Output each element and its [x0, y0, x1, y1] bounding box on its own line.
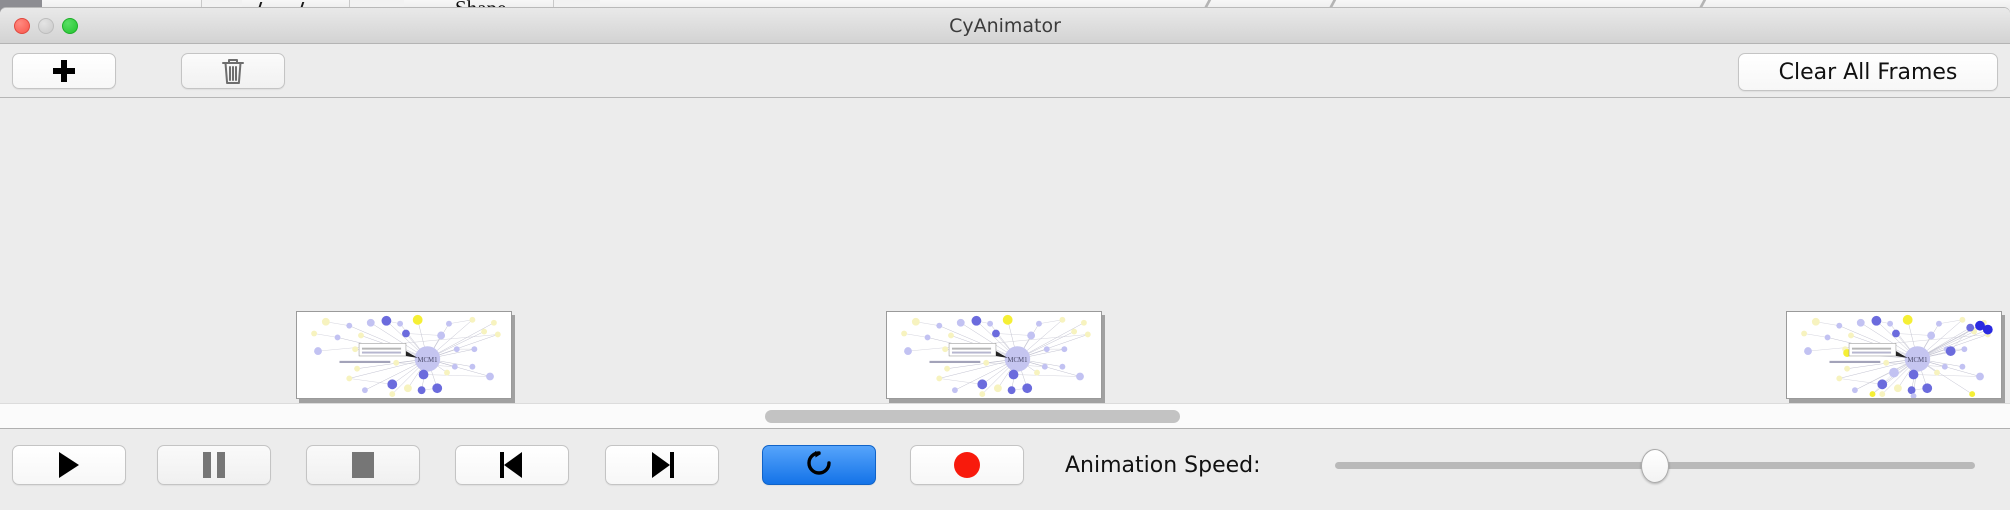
timeline-scrollbar[interactable]	[0, 403, 2010, 429]
animation-speed-label: Animation Speed:	[1065, 453, 1261, 478]
frame-thumbnail[interactable]: MCM1	[886, 311, 1102, 399]
record-icon	[954, 452, 980, 478]
scrollbar-thumb[interactable]	[765, 410, 1180, 423]
frame-thumbnail[interactable]: MCM1	[1786, 311, 2002, 399]
stop-button[interactable]	[306, 445, 420, 485]
svg-text:MCM1: MCM1	[1907, 357, 1927, 364]
cyanimator-window: CyAnimator Clear All Frames MCM1MCM1MCM1…	[0, 8, 2010, 510]
add-frame-button[interactable]	[12, 53, 116, 89]
skip-forward-icon	[649, 452, 675, 478]
trash-icon	[220, 56, 246, 86]
window-title: CyAnimator	[0, 15, 2010, 37]
delete-frame-button[interactable]	[181, 53, 285, 89]
animation-speed-slider[interactable]	[1335, 445, 1975, 485]
timeline-panel[interactable]: MCM1MCM1MCM1 12131415161718 Seconds	[0, 98, 2010, 403]
frame-toolbar: Clear All Frames	[0, 44, 2010, 98]
play-icon	[59, 452, 79, 478]
loop-icon	[804, 448, 834, 483]
stop-icon	[352, 452, 374, 478]
frame-thumbnail[interactable]: MCM1	[296, 311, 512, 399]
clear-all-frames-button[interactable]: Clear All Frames	[1738, 53, 1998, 91]
loop-button[interactable]	[762, 445, 876, 485]
skip-back-icon	[499, 452, 525, 478]
title-bar: CyAnimator	[0, 8, 2010, 44]
plus-icon	[52, 59, 76, 83]
pause-icon	[203, 452, 225, 478]
slider-thumb[interactable]	[1641, 449, 1669, 483]
play-button[interactable]	[12, 445, 126, 485]
svg-text:MCM1: MCM1	[417, 357, 437, 364]
next-frame-button[interactable]	[605, 445, 719, 485]
previous-frame-button[interactable]	[455, 445, 569, 485]
pause-button[interactable]	[157, 445, 271, 485]
record-button[interactable]	[910, 445, 1024, 485]
svg-text:MCM1: MCM1	[1007, 357, 1027, 364]
playback-controls: Animation Speed:	[0, 429, 2010, 501]
